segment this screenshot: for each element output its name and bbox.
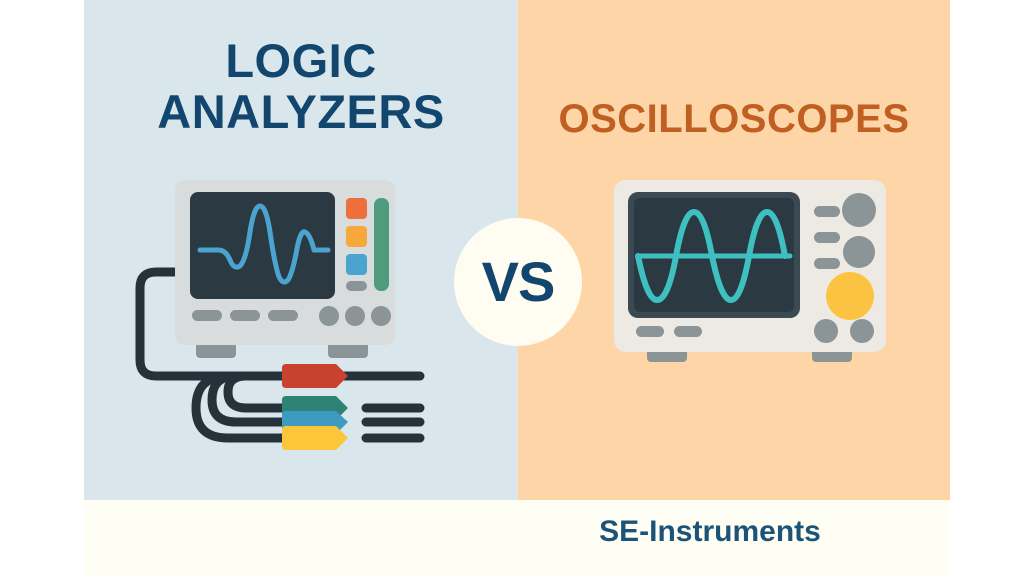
control-knob-1[interactable] xyxy=(319,306,339,326)
brand-footer: SE-Instruments xyxy=(500,515,920,549)
versus-label: VS xyxy=(482,254,555,310)
scope-knob-3[interactable] xyxy=(814,319,838,343)
title-left-line2: ANALYZERS xyxy=(84,87,518,138)
scope-knob-1[interactable] xyxy=(842,193,876,227)
scope-knob-4[interactable] xyxy=(850,319,874,343)
level-slider[interactable] xyxy=(374,198,389,291)
probe-connector-1[interactable] xyxy=(282,364,348,388)
logic-analyzer-illustration xyxy=(120,170,430,490)
oscilloscope-illustration xyxy=(600,168,900,368)
scope-pill-3[interactable] xyxy=(814,258,840,269)
control-pill-1[interactable] xyxy=(192,310,222,321)
control-pill-3[interactable] xyxy=(268,310,298,321)
control-knob-3[interactable] xyxy=(371,306,391,326)
page-title-left: LOGIC ANALYZERS xyxy=(84,36,518,138)
indicator-button-2[interactable] xyxy=(346,226,367,247)
versus-badge: VS xyxy=(454,218,582,346)
indicator-button-4[interactable] xyxy=(346,281,367,291)
page-title-right: OSCILLOSCOPES xyxy=(518,98,950,141)
scope-pill-5[interactable] xyxy=(674,326,702,337)
control-knob-2[interactable] xyxy=(345,306,365,326)
title-left-line1: LOGIC xyxy=(84,36,518,87)
comparison-graphic: LOGIC ANALYZERS OSCILLOSCOPES xyxy=(0,0,1024,576)
scope-pill-4[interactable] xyxy=(636,326,664,337)
indicator-button-3[interactable] xyxy=(346,254,367,275)
scope-pill-2[interactable] xyxy=(814,232,840,243)
indicator-button-1[interactable] xyxy=(346,198,367,219)
scope-knob-2[interactable] xyxy=(843,236,875,268)
control-pill-2[interactable] xyxy=(230,310,260,321)
scope-pill-1[interactable] xyxy=(814,206,840,217)
probe-connector-4[interactable] xyxy=(282,426,348,450)
scope-main-knob[interactable] xyxy=(826,272,874,320)
